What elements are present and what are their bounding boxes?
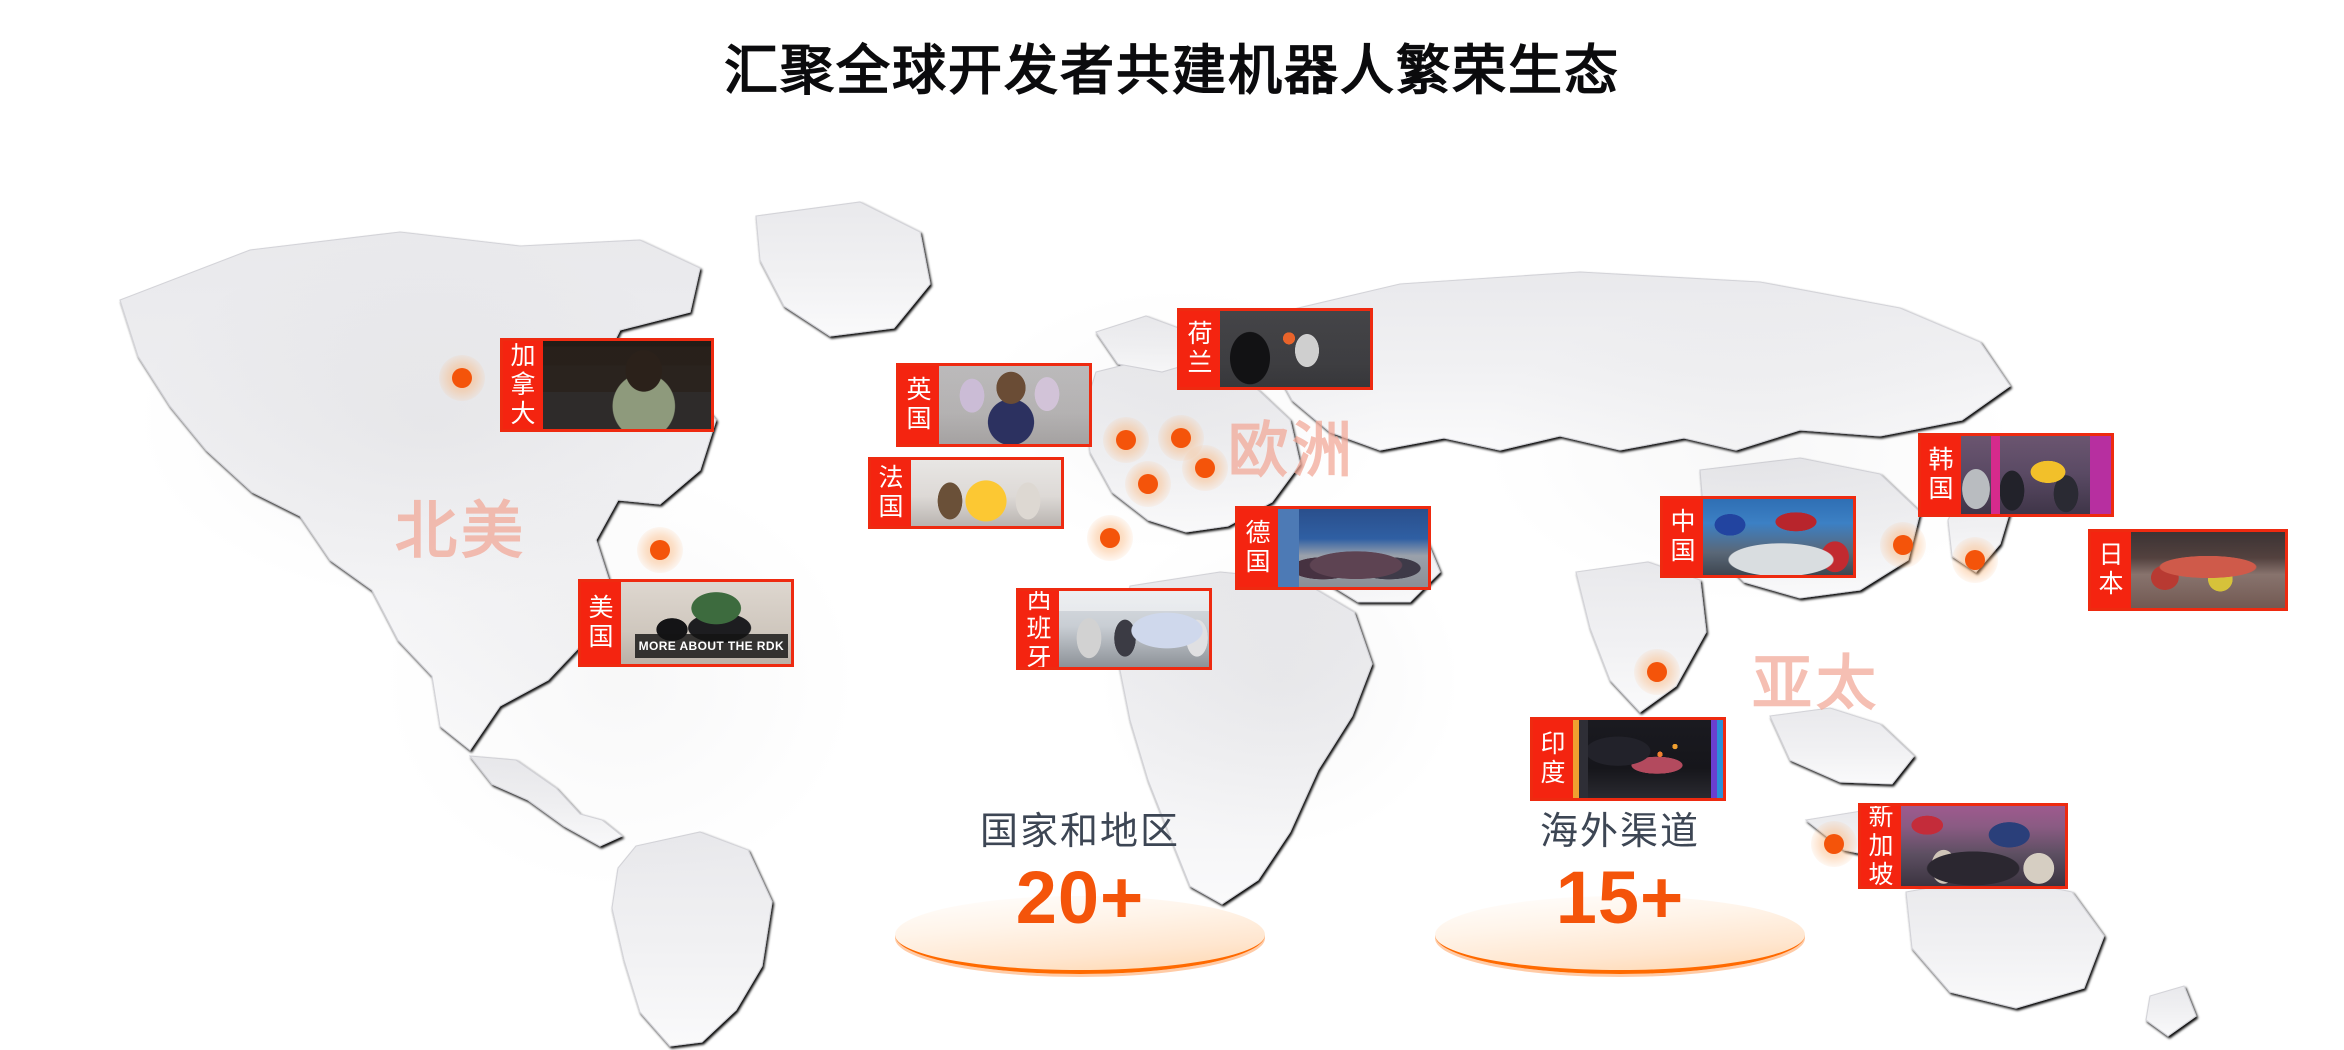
card-india[interactable]: 印度: [1530, 717, 1726, 801]
card-germany-photo: [1278, 509, 1428, 587]
page-title: 汇聚全球开发者共建机器人繁荣生态: [0, 38, 2344, 106]
stat-countries: 国家和地区 20+: [930, 800, 1230, 937]
card-china-photo: [1703, 499, 1853, 575]
card-uk-photo: [939, 366, 1089, 444]
card-japan-label: 日本: [2091, 532, 2131, 608]
marker-singapore-icon[interactable]: [1811, 821, 1857, 867]
stat-countries-title: 国家和地区: [930, 800, 1230, 855]
card-usa-label: 美国: [581, 582, 621, 664]
slide-root: 汇聚全球开发者共建机器人繁荣生态: [0, 0, 2344, 1050]
marker-korea-icon[interactable]: [1880, 522, 1926, 568]
card-netherlands-photo: [1220, 311, 1370, 387]
card-usa-caption: MORE ABOUT THE RDK X5 LATER!: [635, 634, 788, 658]
card-china[interactable]: 中国: [1660, 496, 1856, 578]
stat-channels-title: 海外渠道: [1470, 800, 1770, 855]
marker-india-icon[interactable]: [1634, 649, 1680, 695]
region-label-europe: 欧洲: [1228, 402, 1356, 489]
stat-channels-value: 15+: [1470, 859, 1770, 937]
marker-uk-icon[interactable]: [1103, 417, 1149, 463]
card-china-label: 中国: [1663, 499, 1703, 575]
card-france-label: 法国: [871, 460, 911, 526]
card-korea-photo: [1961, 436, 2111, 514]
card-germany-label: 德国: [1238, 509, 1278, 587]
card-japan-photo: [2131, 532, 2285, 608]
card-usa[interactable]: 美国 MORE ABOUT THE RDK X5 LATER!: [578, 579, 794, 667]
marker-japan-icon[interactable]: [1952, 537, 1998, 583]
card-spain-photo: [1059, 591, 1209, 667]
card-spain-label: 西班牙: [1019, 591, 1059, 667]
stat-countries-value: 20+: [930, 859, 1230, 937]
marker-canada-icon[interactable]: [439, 355, 485, 401]
marker-germany-icon[interactable]: [1182, 445, 1228, 491]
region-label-asia-pacific: 亚太: [1752, 635, 1880, 722]
region-label-north-america: 北美: [395, 480, 527, 570]
card-netherlands[interactable]: 荷兰: [1177, 308, 1373, 390]
marker-spain-icon[interactable]: [1087, 515, 1133, 561]
card-india-photo: [1573, 720, 1723, 798]
card-france[interactable]: 法国: [868, 457, 1064, 529]
card-canada[interactable]: 加拿大: [500, 338, 714, 432]
card-canada-photo: [543, 341, 711, 429]
card-korea-label: 韩国: [1921, 436, 1961, 514]
card-spain[interactable]: 西班牙: [1016, 588, 1212, 670]
marker-usa-icon[interactable]: [637, 527, 683, 573]
card-japan[interactable]: 日本: [2088, 529, 2288, 611]
marker-france-icon[interactable]: [1125, 461, 1171, 507]
card-singapore-photo: [1901, 806, 2065, 886]
card-korea[interactable]: 韩国: [1918, 433, 2114, 517]
card-uk-label: 英国: [899, 366, 939, 444]
card-uk[interactable]: 英国: [896, 363, 1092, 447]
card-canada-label: 加拿大: [503, 341, 543, 429]
stat-channels: 海外渠道 15+: [1470, 800, 1770, 937]
card-singapore[interactable]: 新加坡: [1858, 803, 2068, 889]
card-usa-photo: MORE ABOUT THE RDK X5 LATER!: [621, 582, 791, 664]
card-netherlands-label: 荷兰: [1180, 311, 1220, 387]
card-germany[interactable]: 德国: [1235, 506, 1431, 590]
card-france-photo: [911, 460, 1061, 526]
card-singapore-label: 新加坡: [1861, 806, 1901, 886]
card-india-label: 印度: [1533, 720, 1573, 798]
